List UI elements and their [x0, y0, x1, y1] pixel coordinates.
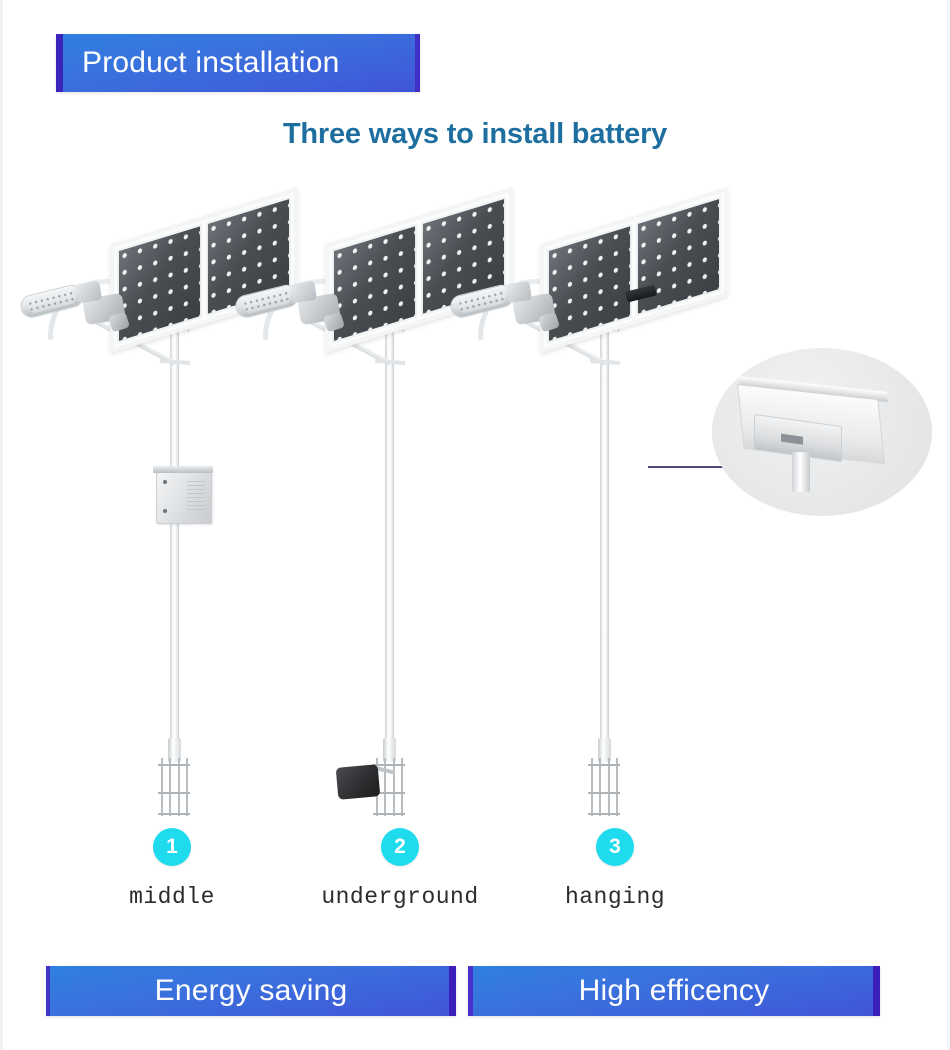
illustration-stage [0, 170, 950, 830]
banner-edge-right [449, 966, 456, 1016]
anchor-ring [158, 813, 190, 815]
anchor-ring [588, 764, 620, 766]
anchor-bolt [186, 758, 188, 816]
product-installation-infographic: Product installation Three ways to insta… [0, 0, 950, 1050]
banner-edge-right [415, 34, 420, 92]
anchor-bolt [591, 758, 593, 816]
street-light-pole-hanging [440, 170, 770, 830]
anchor-ring [158, 764, 190, 766]
banner-edge-left [468, 966, 473, 1016]
step-middle: 1 middle [62, 828, 282, 910]
anchor-ring [373, 813, 405, 815]
inset-pole-top [792, 452, 810, 492]
section-subtitle: Three ways to install battery [0, 118, 950, 151]
battery-box-vent [187, 481, 205, 513]
foundation-anchor-cage [588, 758, 620, 820]
anchor-bolt [616, 758, 618, 816]
anchor-bolt [401, 758, 403, 816]
step-hanging: 3 hanging [505, 828, 725, 910]
step-underground: 2 underground [290, 828, 510, 910]
lamp-led-array [242, 290, 292, 314]
foundation-anchor-cage [158, 758, 190, 820]
battery-box-mid-pole [156, 470, 212, 524]
high-efficiency-banner: High efficency [468, 966, 880, 1016]
battery-box-underground [336, 764, 381, 800]
step-label: underground [290, 884, 510, 910]
banner-edge-left [46, 966, 50, 1016]
anchor-ring [588, 813, 620, 815]
anchor-bolt [178, 758, 180, 816]
banner-title-text: Product installation [82, 46, 339, 80]
battery-box-lid [153, 466, 213, 473]
anchor-bolt [599, 758, 601, 816]
banner-edge-left [56, 34, 63, 92]
anchor-ring [158, 792, 190, 794]
battery-box-screw [163, 509, 167, 513]
anchor-bolt [169, 758, 171, 816]
anchor-bolt [161, 758, 163, 816]
step-label: middle [62, 884, 282, 910]
high-efficiency-text: High efficency [579, 974, 770, 1008]
solar-panel-cells-left [547, 224, 632, 344]
lamp-led-array [27, 290, 77, 314]
lamp-mount-knuckle [76, 281, 102, 303]
step-number-badge: 2 [381, 828, 419, 866]
detail-inset-hanging-battery [712, 348, 932, 516]
solar-panel-cells-right [636, 196, 721, 316]
step-number-badge: 3 [596, 828, 634, 866]
product-installation-banner: Product installation [56, 34, 420, 92]
solar-panel [540, 187, 727, 353]
step-label: hanging [505, 884, 725, 910]
energy-saving-text: Energy saving [155, 974, 348, 1008]
energy-saving-banner: Energy saving [46, 966, 456, 1016]
anchor-bolt [608, 758, 610, 816]
anchor-bolt [393, 758, 395, 816]
banner-edge-right [873, 966, 880, 1016]
anchor-bolt [384, 758, 386, 816]
lamp-mount-knuckle [506, 281, 532, 303]
anchor-ring [588, 792, 620, 794]
step-number-badge: 1 [153, 828, 191, 866]
pole-mast [385, 302, 394, 752]
solar-panel-cells-left [332, 224, 417, 344]
installation-steps: 1 middle 2 underground 3 hanging [0, 828, 950, 928]
pole-mast [170, 302, 179, 752]
pole-mast [600, 302, 609, 752]
solar-panel-cells-left [117, 224, 202, 344]
lamp-mount-knuckle [291, 281, 317, 303]
inset-battery-label [781, 434, 803, 445]
battery-box-screw [163, 480, 167, 484]
lamp-led-array [457, 290, 507, 314]
